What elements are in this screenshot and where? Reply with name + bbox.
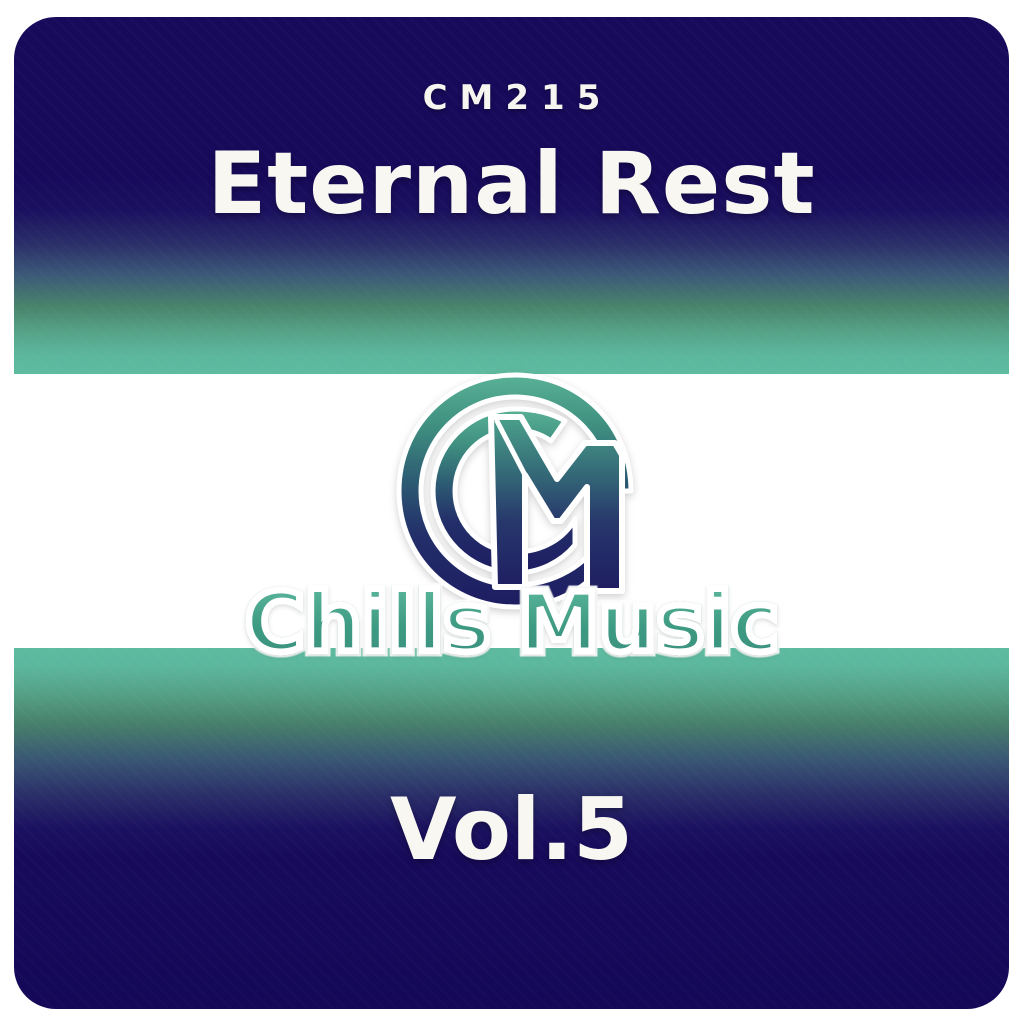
album-cover-artwork: CM215 Eternal Rest: [0, 0, 1024, 1024]
catalog-number: CM215: [14, 81, 1009, 115]
artwork-card: CM215 Eternal Rest: [14, 17, 1009, 1009]
album-title: Eternal Rest: [14, 139, 1009, 229]
label-wordmark: Chills Music: [14, 583, 1009, 665]
volume-label: Vol.5: [14, 785, 1009, 875]
